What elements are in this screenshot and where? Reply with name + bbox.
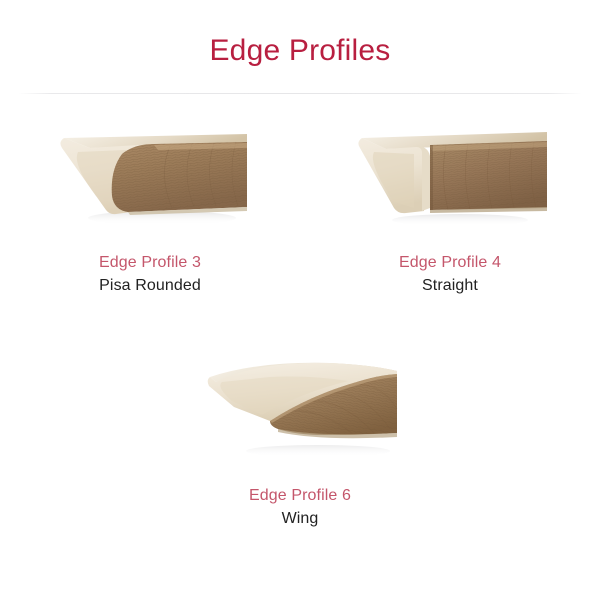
edge-profile-4-straight-photo xyxy=(350,122,550,237)
edge-profiles-page: Edge Profiles xyxy=(0,0,600,600)
profile-caption: Edge Profile 3 Pisa Rounded xyxy=(0,251,300,297)
profile-name: Wing xyxy=(150,507,450,530)
profile-code: Edge Profile 6 xyxy=(150,484,450,507)
profile-code: Edge Profile 3 xyxy=(0,251,300,274)
profile-card-edge-profile-3[interactable]: Edge Profile 3 Pisa Rounded xyxy=(0,94,300,297)
edge-profile-3-pisa-rounded-photo xyxy=(50,122,250,237)
profile-name: Pisa Rounded xyxy=(0,274,300,297)
profile-card-edge-profile-4[interactable]: Edge Profile 4 Straight xyxy=(300,94,600,297)
profile-caption: Edge Profile 4 Straight xyxy=(300,251,600,297)
profile-name: Straight xyxy=(300,274,600,297)
edge-profile-6-wing-photo xyxy=(200,355,400,470)
profile-code: Edge Profile 4 xyxy=(300,251,600,274)
profiles-grid: Edge Profile 3 Pisa Rounded xyxy=(0,94,600,531)
page-title: Edge Profiles xyxy=(0,0,600,69)
profile-card-edge-profile-6[interactable]: Edge Profile 6 Wing xyxy=(150,297,450,530)
profile-caption: Edge Profile 6 Wing xyxy=(150,484,450,530)
